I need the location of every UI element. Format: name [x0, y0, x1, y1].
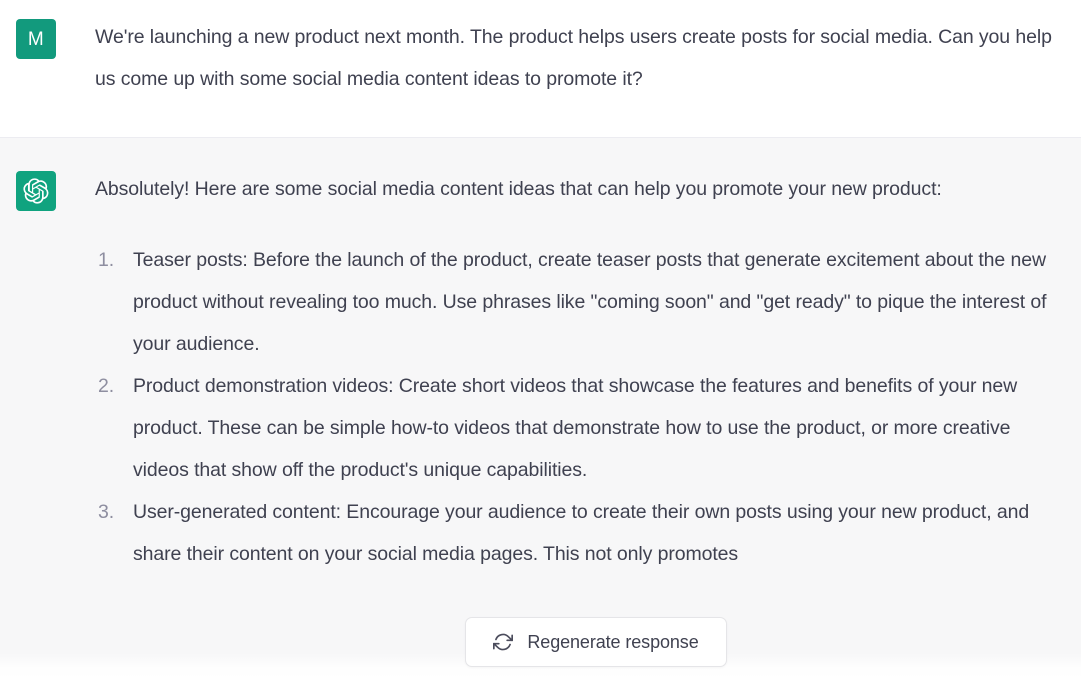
user-message-body: We're launching a new product next month…	[95, 16, 1063, 100]
assistant-message-inner: Absolutely! Here are some social media c…	[0, 168, 1081, 575]
refresh-icon	[493, 632, 513, 652]
user-message-inner: M We're launching a new product next mon…	[0, 16, 1081, 100]
chat-conversation-view: M We're launching a new product next mon…	[0, 0, 1081, 679]
assistant-message-row: Absolutely! Here are some social media c…	[0, 137, 1081, 679]
assistant-message-body: Absolutely! Here are some social media c…	[95, 168, 1063, 575]
openai-logo-icon	[23, 178, 49, 204]
assistant-avatar	[16, 171, 56, 211]
user-message-text: We're launching a new product next month…	[95, 16, 1063, 100]
content-ideas-list: Teaser posts: Before the launch of the p…	[95, 239, 1063, 575]
assistant-intro-text: Absolutely! Here are some social media c…	[95, 168, 1063, 210]
list-item: User-generated content: Encourage your a…	[95, 491, 1063, 575]
user-message-row: M We're launching a new product next mon…	[0, 0, 1081, 137]
user-initial-avatar: M	[16, 19, 56, 59]
list-item: Teaser posts: Before the launch of the p…	[95, 239, 1063, 365]
regenerate-response-label: Regenerate response	[527, 632, 698, 653]
regenerate-response-button[interactable]: Regenerate response	[465, 617, 727, 667]
list-item: Product demonstration videos: Create sho…	[95, 365, 1063, 491]
user-avatar-initial: M	[28, 30, 44, 49]
